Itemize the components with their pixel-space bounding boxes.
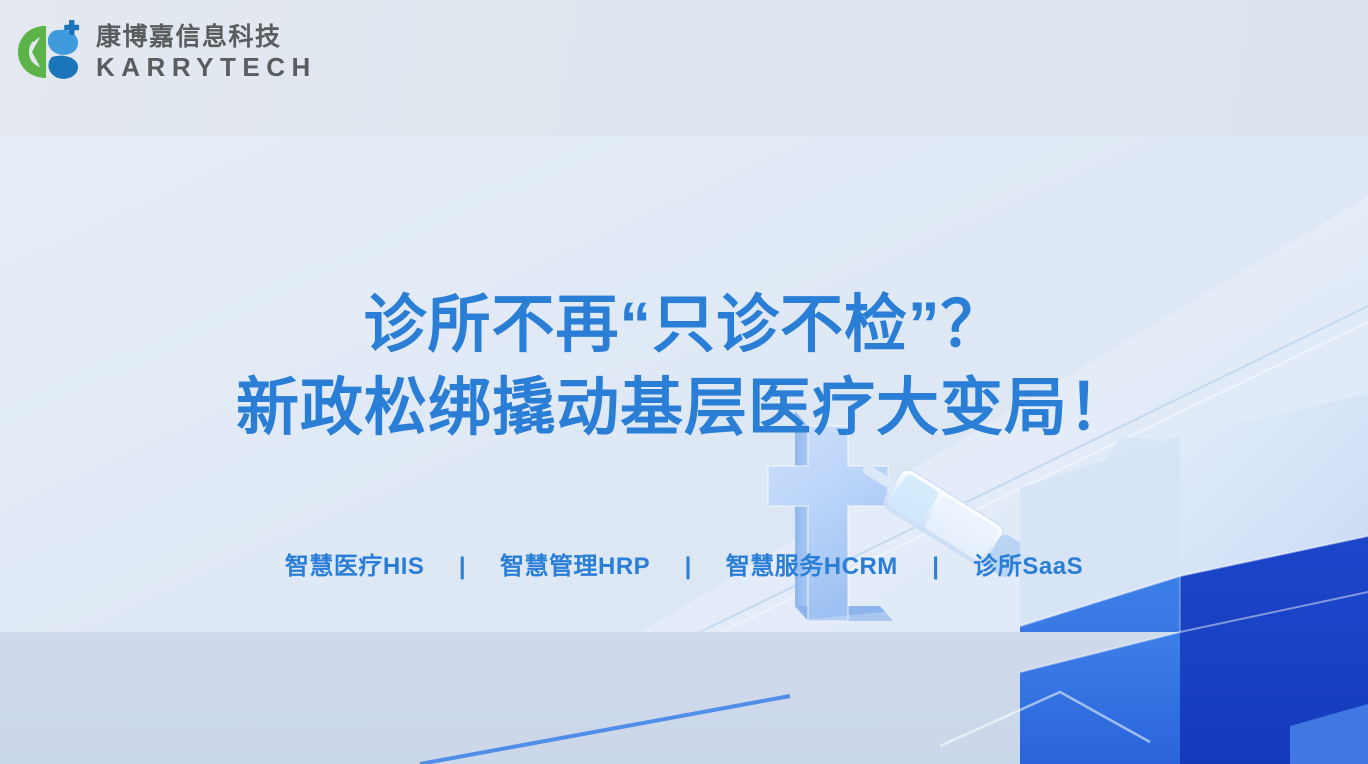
background-foreground-layer — [0, 136, 1368, 764]
marketing-banner: 诊所不再“只诊不检”？ 新政松绑撬动基层医疗大变局！ 智慧医疗HIS | 智慧管… — [0, 0, 1368, 764]
brand-wordmark: 康博嘉信息科技 KARRYTECH — [96, 23, 317, 81]
karrytech-logo-mark — [12, 18, 90, 86]
hero-background — [0, 136, 1368, 764]
logo-glyph — [12, 18, 90, 86]
brand-logo[interactable]: 康博嘉信息科技 KARRYTECH — [12, 14, 317, 90]
site-header: 康博嘉信息科技 KARRYTECH — [0, 0, 1368, 136]
brand-name-en: KARRYTECH — [96, 53, 317, 82]
brand-name-cn: 康博嘉信息科技 — [96, 23, 317, 52]
